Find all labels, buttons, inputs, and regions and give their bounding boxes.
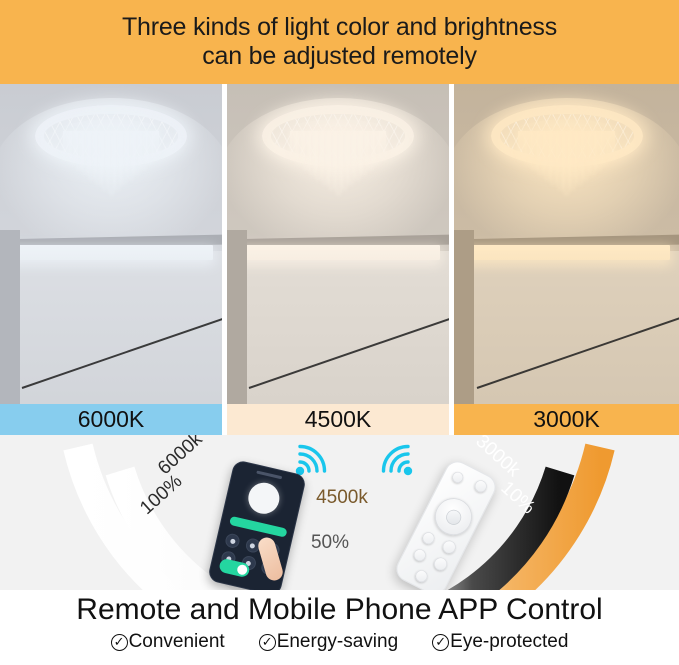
label-bar-6000k: 6000K <box>0 404 222 435</box>
remote-control[interactable] <box>392 457 500 599</box>
label-bar-3000k: 3000K <box>454 404 679 435</box>
product-feature-image: Three kinds of light color and brightnes… <box>0 0 679 665</box>
header-title-line-2: can be adjusted remotely <box>202 42 477 71</box>
feature-label: Convenient <box>129 631 225 653</box>
feature-convenient: ✓ Convenient <box>111 631 225 653</box>
room-photo-3000k <box>454 84 679 431</box>
remote-timer-button[interactable] <box>420 530 436 546</box>
feature-eye-protected: ✓ Eye-protected <box>432 631 568 653</box>
header-banner: Three kinds of light color and brightnes… <box>0 0 679 84</box>
room-photo-panels <box>0 84 679 431</box>
color-temperature-labels: 6000K 4500K 3000K <box>0 404 679 435</box>
left-wall <box>227 230 247 431</box>
cove-light <box>236 245 440 260</box>
crystal-drop <box>608 131 615 160</box>
arc-label-6000k: 6000k <box>154 435 207 479</box>
feature-label: Eye-protected <box>450 631 568 653</box>
arc-label-50-percent: 50% <box>311 532 349 553</box>
left-wall <box>454 230 474 431</box>
phone-speaker <box>256 471 282 480</box>
remote-extra-button[interactable] <box>413 568 429 584</box>
feature-label: Energy-saving <box>277 631 398 653</box>
remote-dpad[interactable] <box>429 492 479 542</box>
app-scene-button[interactable] <box>224 532 241 549</box>
room-photo-6000k <box>0 84 222 431</box>
check-circle-icon: ✓ <box>111 634 128 651</box>
header-title-line-1: Three kinds of light color and brightnes… <box>122 13 557 42</box>
remote-mode-button[interactable] <box>473 478 489 494</box>
control-diagram-section: 6000k 4500k 3000k 100% 50% 10% <box>0 435 679 590</box>
cove-light <box>9 245 213 260</box>
crystal-drop <box>379 131 386 160</box>
feature-energy-saving: ✓ Energy-saving <box>259 631 398 653</box>
crystal-ceiling-lamp <box>262 105 414 215</box>
hand-holding-phone <box>206 466 316 601</box>
crystal-ceiling-lamp <box>35 105 187 215</box>
footer-title: Remote and Mobile Phone APP Control <box>0 590 679 628</box>
crystal-drop <box>152 131 159 160</box>
remote-night-button[interactable] <box>440 538 457 555</box>
remote-scene-button[interactable] <box>432 555 449 572</box>
smartphone-app[interactable] <box>207 459 307 596</box>
app-dimmer-dial[interactable] <box>245 480 282 517</box>
arc-label-4500k: 4500k <box>316 487 368 508</box>
label-bar-4500k: 4500K <box>227 404 449 435</box>
remote-control-device <box>399 458 519 598</box>
remote-power-button[interactable] <box>450 470 465 485</box>
crystal-ceiling-lamp <box>491 105 643 215</box>
feature-list: ✓ Convenient ✓ Energy-saving ✓ Eye-prote… <box>0 631 679 653</box>
dimming-arcs: 6000k 4500k 3000k 100% 50% 10% <box>0 435 679 590</box>
cove-light <box>463 245 670 260</box>
check-circle-icon: ✓ <box>432 634 449 651</box>
left-wall <box>0 230 20 431</box>
footer-section: Remote and Mobile Phone APP Control ✓ Co… <box>0 590 679 665</box>
check-circle-icon: ✓ <box>259 634 276 651</box>
room-photo-4500k <box>227 84 449 431</box>
remote-dim-button[interactable] <box>412 547 428 563</box>
